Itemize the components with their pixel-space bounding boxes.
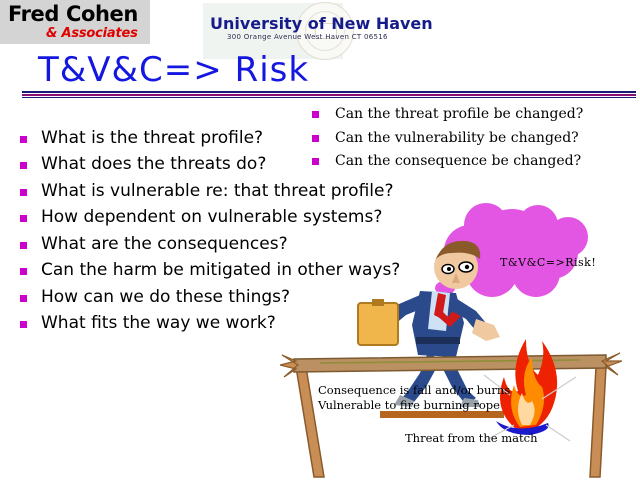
list-item-label: What is the threat profile? (41, 128, 263, 148)
bullet-square-icon (312, 135, 319, 142)
title-rule-navy-top (22, 91, 636, 93)
list-item-label: What fits the way we work? (41, 313, 276, 333)
thought-bubble-label: T&V&C=>Risk! (500, 256, 596, 269)
bullet-square-icon (312, 158, 319, 165)
bullet-square-icon (20, 242, 27, 249)
list-item: Can the threat profile be changed? (312, 106, 583, 122)
bullet-square-icon (312, 111, 319, 118)
company-name: Fred Cohen (8, 2, 138, 26)
bullet-square-icon (20, 268, 27, 275)
bullet-square-icon (20, 162, 27, 169)
match-icon (380, 411, 504, 418)
bullet-square-icon (20, 136, 27, 143)
list-item-label: What does the threats do? (41, 154, 266, 174)
list-item: What are the consequences? (20, 234, 288, 254)
list-item-label: Can the threat profile be changed? (335, 106, 583, 122)
title-rule-magenta (22, 94, 636, 96)
list-item-label: Can the vulnerability be changed? (335, 130, 579, 146)
bullet-square-icon (20, 295, 27, 302)
list-item: Can the consequence be changed? (312, 153, 581, 169)
list-item-label: How can we do these things? (41, 287, 290, 307)
page-title: T&V&C=> Risk (38, 50, 309, 90)
company-subtitle: & Associates (46, 26, 138, 41)
bullet-square-icon (20, 321, 27, 328)
list-item: What fits the way we work? (20, 313, 276, 333)
caption-consequence: Consequence is fall and/or burns (318, 383, 510, 397)
caption-vulnerable: Vulnerable to fire burning rope (318, 398, 500, 412)
bullet-square-icon (20, 215, 27, 222)
caption-threat: Threat from the match (405, 431, 537, 445)
university-name: University of New Haven (210, 14, 433, 33)
list-item: What is the threat profile? (20, 128, 263, 148)
list-item: What does the threats do? (20, 154, 266, 174)
list-item: How can we do these things? (20, 287, 290, 307)
title-rule-navy-bottom (22, 97, 636, 98)
list-item-label: What are the consequences? (41, 234, 288, 254)
list-item-label: Can the consequence be changed? (335, 153, 581, 169)
university-address: 300 Orange Avenue West Haven CT 06516 (227, 33, 388, 41)
list-item: Can the vulnerability be changed? (312, 130, 579, 146)
bullet-square-icon (20, 189, 27, 196)
